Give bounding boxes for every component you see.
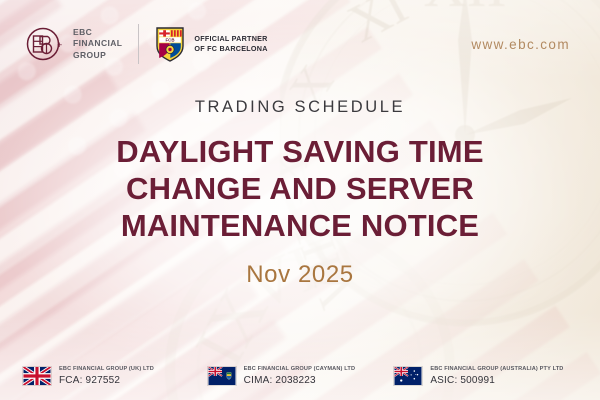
fcb-partner-lockup: FCB OFFICIAL PARTNER OF FC BARCELONA bbox=[155, 26, 267, 62]
brand-divider bbox=[138, 24, 139, 64]
uk-license-number: FCA: 927552 bbox=[59, 375, 154, 386]
cayman-company-name: EBC FINANCIAL GROUP (CAYMAN) LTD bbox=[244, 366, 356, 372]
ebc-wordmark-line2: FINANCIAL bbox=[73, 38, 122, 49]
fc-barcelona-crest-icon: FCB bbox=[155, 26, 185, 62]
regulatory-entity-uk: EBC FINANCIAL GROUP (UK) LTD FCA: 927552 bbox=[22, 366, 207, 386]
fcb-partner-text: OFFICIAL PARTNER OF FC BARCELONA bbox=[194, 34, 267, 53]
svg-text:+: + bbox=[57, 40, 62, 50]
cayman-islands-flag-icon bbox=[207, 366, 237, 386]
fcb-crest-text: FCB bbox=[166, 37, 175, 42]
australia-license-number: ASIC: 500991 bbox=[430, 375, 563, 386]
regulatory-entity-cayman: EBC FINANCIAL GROUP (CAYMAN) LTD CIMA: 2… bbox=[207, 366, 394, 386]
uk-company-name: EBC FINANCIAL GROUP (UK) LTD bbox=[59, 366, 154, 372]
cayman-entity-text: EBC FINANCIAL GROUP (CAYMAN) LTD CIMA: 2… bbox=[244, 366, 356, 385]
headline-line-1: DAYLIGHT SAVING TIME bbox=[40, 134, 560, 171]
ebc-wordmark-line1: EBC bbox=[73, 27, 122, 38]
headline-line-2: CHANGE AND SERVER bbox=[40, 171, 560, 208]
regulatory-entity-australia: EBC FINANCIAL GROUP (AUSTRALIA) PTY LTD … bbox=[393, 366, 578, 386]
website-url[interactable]: www.ebc.com bbox=[471, 37, 576, 52]
ebc-wordmark: EBC FINANCIAL GROUP bbox=[73, 27, 122, 61]
fcb-partner-line1: OFFICIAL PARTNER bbox=[194, 34, 267, 44]
regulatory-footer: EBC FINANCIAL GROUP (UK) LTD FCA: 927552 bbox=[0, 366, 600, 386]
notice-date: Nov 2025 bbox=[0, 261, 600, 289]
eyebrow-label: TRADING SCHEDULE bbox=[0, 98, 600, 117]
ebc-wordmark-line3: GROUP bbox=[73, 50, 122, 61]
uk-flag-icon bbox=[22, 366, 52, 386]
headline-line-3: MAINTENANCE NOTICE bbox=[40, 208, 560, 245]
promotional-banner: XII XI X IX VIII IX VIII bbox=[0, 0, 600, 400]
uk-entity-text: EBC FINANCIAL GROUP (UK) LTD FCA: 927552 bbox=[59, 366, 154, 385]
ebc-brand-lockup: + EBC FINANCIAL GROUP bbox=[24, 24, 122, 64]
headline-title: DAYLIGHT SAVING TIME CHANGE AND SERVER M… bbox=[0, 134, 600, 245]
banner-header: + EBC FINANCIAL GROUP bbox=[0, 0, 600, 88]
banner-main-content: TRADING SCHEDULE DAYLIGHT SAVING TIME CH… bbox=[0, 98, 600, 289]
fcb-partner-line2: OF FC BARCELONA bbox=[194, 44, 267, 54]
australia-company-name: EBC FINANCIAL GROUP (AUSTRALIA) PTY LTD bbox=[430, 366, 563, 372]
australia-flag-icon bbox=[393, 366, 423, 386]
ebc-logo-icon: + bbox=[24, 24, 64, 64]
cayman-license-number: CIMA: 2038223 bbox=[244, 375, 356, 386]
australia-entity-text: EBC FINANCIAL GROUP (AUSTRALIA) PTY LTD … bbox=[430, 366, 563, 385]
